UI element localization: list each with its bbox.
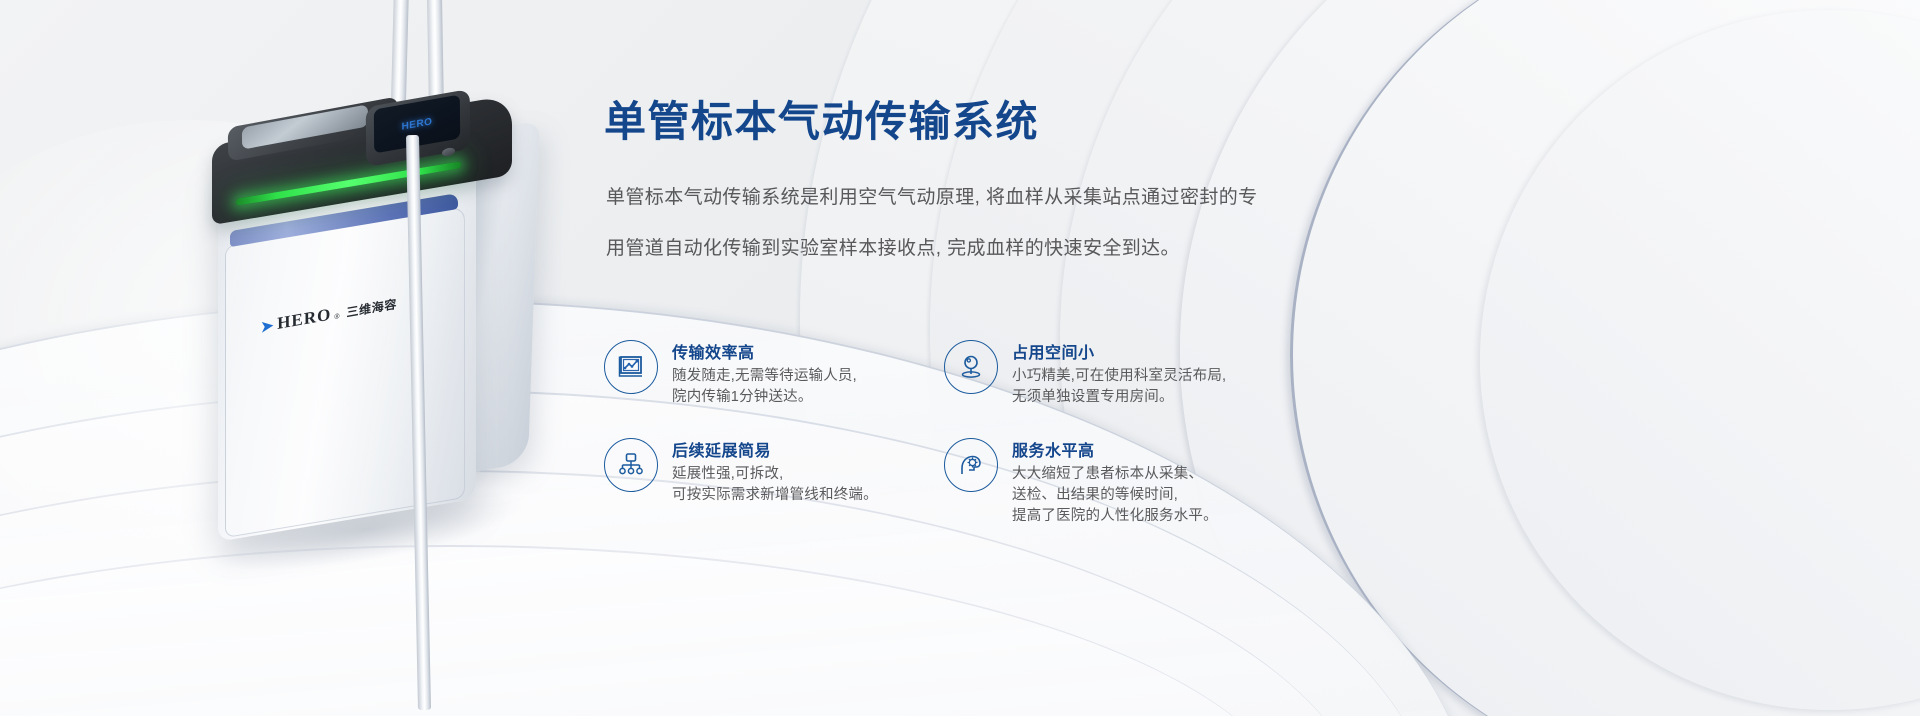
feature-text: 占用空间小 小巧精美,可在使用科室灵活布局, 无须单独设置专用房间。 xyxy=(1012,338,1226,408)
feature-text: 传输效率高 随发随走,无需等待运输人员, 院内传输1分钟送达。 xyxy=(672,338,857,408)
product-door-seam xyxy=(225,206,465,538)
feature-item: 占用空间小 小巧精美,可在使用科室灵活布局, 无须单独设置专用房间。 xyxy=(944,338,1284,408)
product-description: 单管标本气动传输系统是利用空气气动原理, 将血样从采集站点通过密封的专用管道自动… xyxy=(606,172,1266,274)
product-banner: HERO ➤ HERO ® 三维海容 单管标本气动传输系统 单管标本气动传输系统… xyxy=(0,0,1920,716)
feature-text: 后续延展简易 延展性强,可拆改, 可按实际需求新增管线和终端。 xyxy=(672,436,878,506)
banner-content: 单管标本气动传输系统 单管标本气动传输系统是利用空气气动原理, 将血样从采集站点… xyxy=(604,0,1304,716)
product-image: HERO ➤ HERO ® 三维海容 xyxy=(170,0,600,716)
feature-item: 服务水平高 大大缩短了患者标本从采集、 送检、出结果的等候时间, 提高了医院的人… xyxy=(944,436,1284,527)
feature-line: 延展性强,可拆改, xyxy=(672,464,878,485)
feature-line: 院内传输1分钟送达。 xyxy=(672,387,857,408)
space-pin-icon xyxy=(944,340,998,394)
feature-line: 可按实际需求新增管线和终端。 xyxy=(672,485,878,506)
registered-mark-icon: ® xyxy=(334,313,339,321)
head-gear-icon xyxy=(944,438,998,492)
page-title: 单管标本气动传输系统 xyxy=(604,88,1039,149)
feature-line: 送检、出结果的等候时间, xyxy=(1012,485,1218,506)
feature-title: 传输效率高 xyxy=(672,339,857,363)
feature-grid: 传输效率高 随发随走,无需等待运输人员, 院内传输1分钟送达。 占用空间小 xyxy=(604,338,1284,527)
feature-item: 后续延展简易 延展性强,可拆改, 可按实际需求新增管线和终端。 xyxy=(604,436,944,527)
feature-line: 无须单独设置专用房间。 xyxy=(1012,387,1226,408)
network-tree-icon xyxy=(604,438,658,492)
feature-line: 随发随走,无需等待运输人员, xyxy=(672,366,857,387)
feature-line: 提高了医院的人性化服务水平。 xyxy=(1012,506,1218,527)
feature-title: 服务水平高 xyxy=(1012,437,1218,461)
feature-line: 小巧精美,可在使用科室灵活布局, xyxy=(1012,366,1226,387)
feature-text: 服务水平高 大大缩短了患者标本从采集、 送检、出结果的等候时间, 提高了医院的人… xyxy=(1012,436,1218,527)
feature-title: 占用空间小 xyxy=(1012,339,1226,363)
chart-growth-icon xyxy=(604,340,658,394)
feature-title: 后续延展简易 xyxy=(672,437,878,461)
screen-logo: HERO xyxy=(401,116,432,132)
feature-line: 大大缩短了患者标本从采集、 xyxy=(1012,464,1218,485)
feature-item: 传输效率高 随发随走,无需等待运输人员, 院内传输1分钟送达。 xyxy=(604,338,944,408)
brand-swoosh-icon: ➤ xyxy=(260,317,274,336)
